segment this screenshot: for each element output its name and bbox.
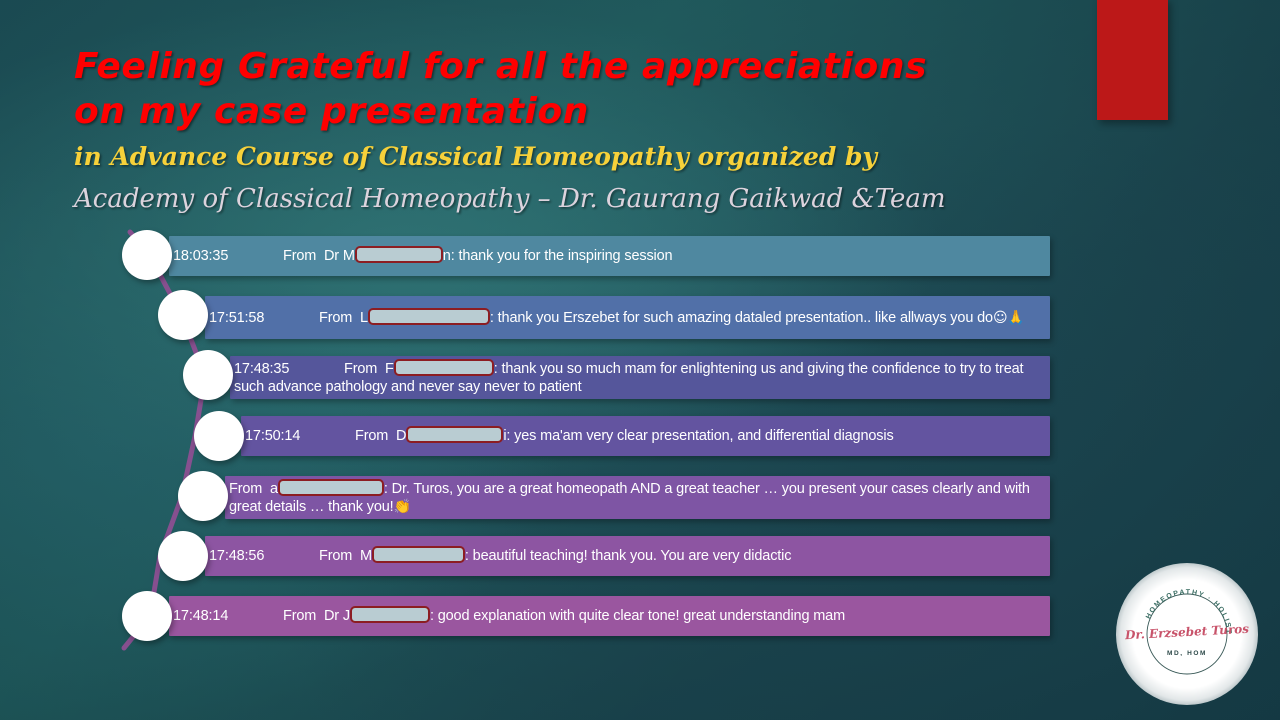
timeline-entry-3: 17:48:35From F: thank you so much mam fo… (230, 356, 1050, 399)
timeline-node-1 (122, 230, 172, 280)
timeline-entry-1: 18:03:35From Dr Mn: thank you for the in… (169, 236, 1050, 276)
entry-message: : beautiful teaching! thank you. You are… (465, 548, 791, 564)
logo-credentials: MD, HOM (1116, 650, 1258, 657)
timeline-node-2 (158, 290, 208, 340)
timeline-entry-text: 17:51:58From L: thank you Erszebet for s… (205, 308, 1050, 328)
entry-redacted-name (372, 546, 465, 563)
timeline-node-4 (194, 411, 244, 461)
entry-timestamp: 17:48:56 (209, 548, 271, 566)
timeline-entry-text: 18:03:35From Dr Mn: thank you for the in… (169, 246, 1050, 266)
entry-redacted-name (350, 606, 430, 623)
entry-redacted-name (406, 426, 503, 443)
entry-timestamp: 17:51:58 (209, 310, 271, 328)
entry-redacted-name (368, 308, 490, 325)
entry-sender-prefix: From F (344, 361, 394, 377)
entry-redacted-name (278, 479, 384, 496)
timeline-entry-6: 17:48:56From M: beautiful teaching! than… (205, 536, 1050, 576)
entry-message: : good explanation with quite clear tone… (430, 608, 845, 624)
timeline-entry-text: 17:48:35From F: thank you so much mam fo… (230, 359, 1050, 396)
timeline-node-3 (183, 350, 233, 400)
entry-timestamp: 17:48:14 (173, 608, 235, 626)
timeline-entry-2: 17:51:58From L: thank you Erszebet for s… (205, 296, 1050, 339)
entry-message: : yes ma'am very clear presentation, and… (506, 428, 893, 444)
entry-sender-prefix: From a (229, 481, 278, 497)
entry-sender-suffix: n (443, 248, 451, 264)
timeline-entry-text: 17:50:14From Di: yes ma'am very clear pr… (241, 426, 1050, 446)
entry-timestamp: 17:48:35 (234, 361, 296, 379)
timeline-entry-5: From a: Dr. Turos, you are a great homeo… (225, 476, 1050, 519)
entry-redacted-name (355, 246, 443, 263)
entry-sender-prefix: From L (319, 310, 368, 326)
timeline-entry-4: 17:50:14From Di: yes ma'am very clear pr… (241, 416, 1050, 456)
timeline: 18:03:35From Dr Mn: thank you for the in… (0, 0, 1280, 720)
entry-redacted-name (394, 359, 494, 376)
timeline-entry-text: 17:48:56From M: beautiful teaching! than… (205, 546, 1050, 566)
timeline-entry-7: 17:48:14From Dr J: good explanation with… (169, 596, 1050, 636)
entry-emoji-icon: ☺🙏 (993, 310, 1025, 326)
timeline-node-7 (122, 591, 172, 641)
entry-message: : thank you Erszebet for such amazing da… (490, 310, 993, 326)
practitioner-logo: HOMEOPATHY · HOLISTIC HEALING Dr. Erzseb… (1116, 563, 1258, 705)
entry-emoji-icon: 👏 (394, 499, 411, 515)
entry-message: : thank you for the inspiring session (451, 248, 673, 264)
entry-sender-prefix: From Dr J (283, 608, 350, 624)
timeline-entry-text: 17:48:14From Dr J: good explanation with… (169, 606, 1050, 626)
entry-sender-prefix: From Dr M (283, 248, 355, 264)
entry-timestamp: 18:03:35 (173, 248, 235, 266)
timeline-node-5 (178, 471, 228, 521)
timeline-node-6 (158, 531, 208, 581)
entry-sender-prefix: From D (355, 428, 406, 444)
entry-timestamp: 17:50:14 (245, 428, 307, 446)
entry-sender-prefix: From M (319, 548, 372, 564)
timeline-entry-text: From a: Dr. Turos, you are a great homeo… (225, 479, 1050, 516)
